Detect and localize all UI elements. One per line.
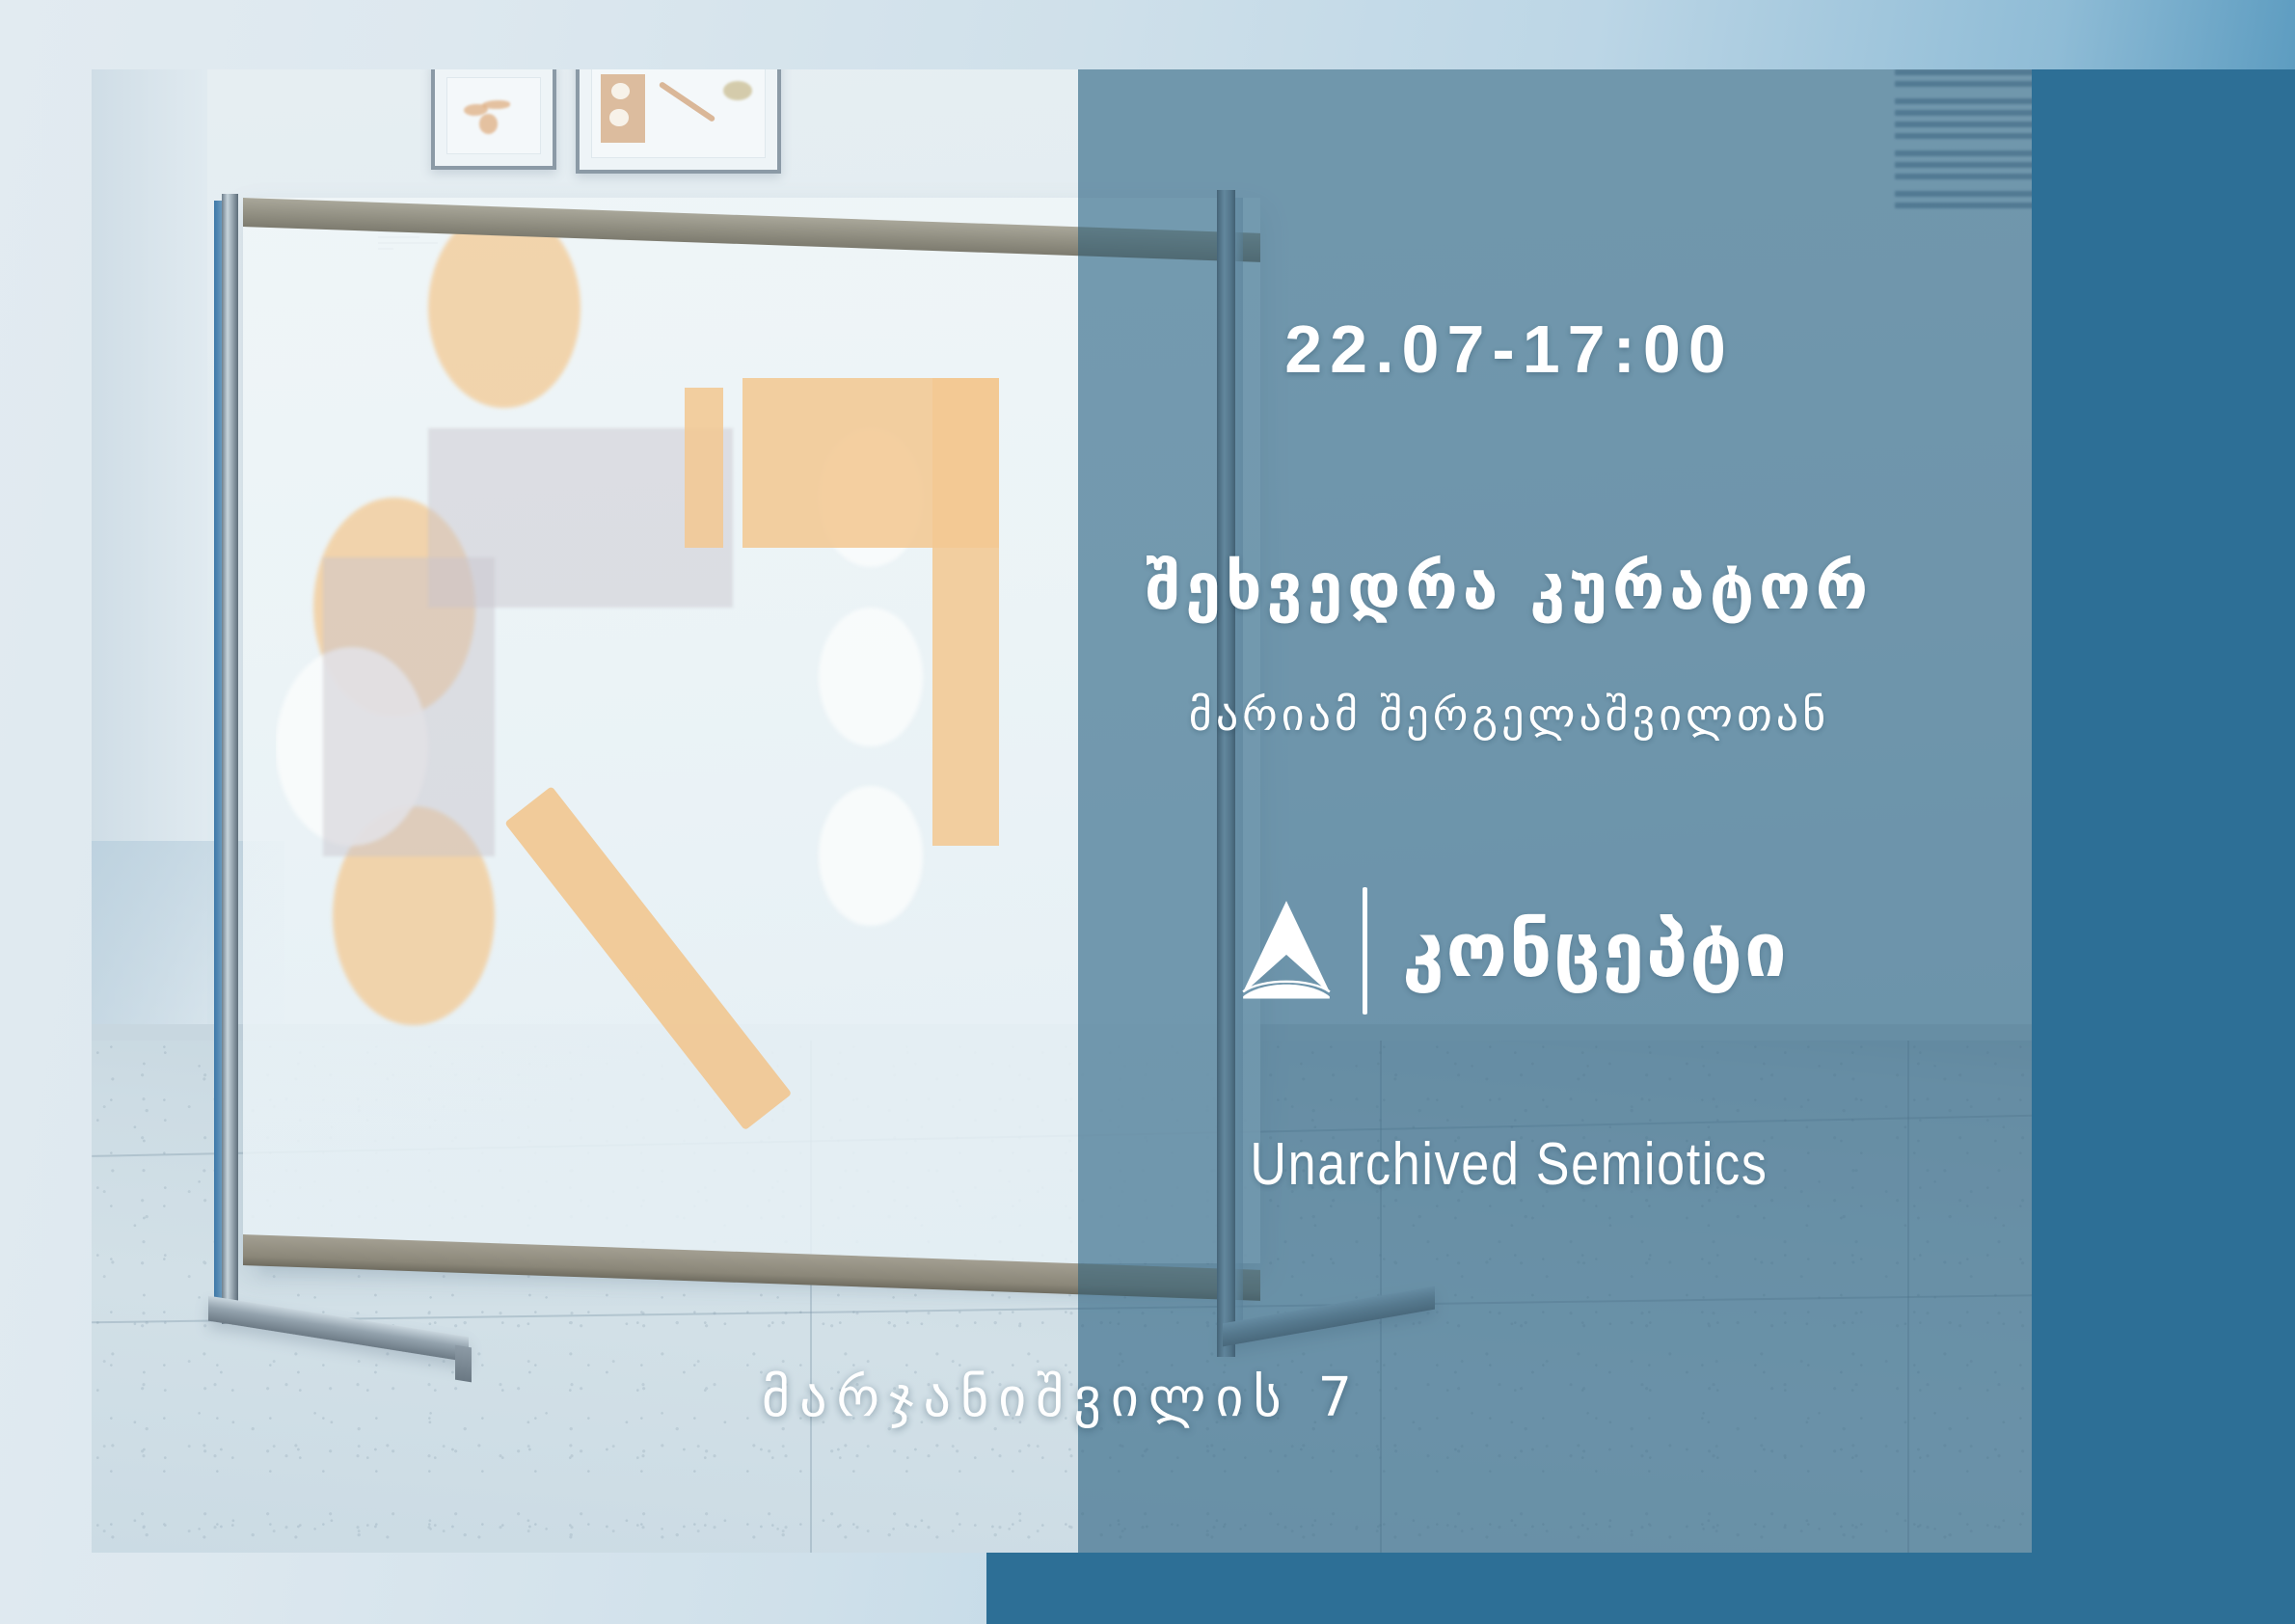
framed-artwork-left [431, 69, 556, 170]
exhibition-title-en: Unarchived Semiotics [1070, 1130, 1949, 1199]
poster-canvas: 22.07-17:00 შეხვედრა კურატორ მარიამ შერგ… [0, 0, 2295, 1624]
event-subheadline: მარიამ შერგელაშვილთან [986, 689, 2032, 741]
right-blue-band [2032, 69, 2295, 1624]
frame-mat [591, 69, 766, 158]
bottom-blue-band [986, 1553, 2295, 1624]
poster-text-block: 22.07-17:00 შეხვედრა კურატორ მარიამ შერგ… [986, 69, 2032, 1553]
panel-post-left [222, 194, 238, 1324]
brand-divider [1363, 887, 1367, 1015]
venue-address: მარჯანიშვილის 7 [92, 1367, 2032, 1429]
panel-foot-left [208, 1296, 469, 1363]
brand-name: კონცეპტი [1402, 913, 1789, 988]
triangle-trefoil-logo-icon [1229, 894, 1343, 1008]
event-date-time: 22.07-17:00 [986, 311, 2032, 388]
event-headline: შეხვედრა კურატორ [986, 550, 2032, 624]
frame-mat [446, 77, 541, 154]
framed-artwork-right [576, 69, 781, 174]
brand-lockup: კონცეპტი [986, 887, 2032, 1015]
